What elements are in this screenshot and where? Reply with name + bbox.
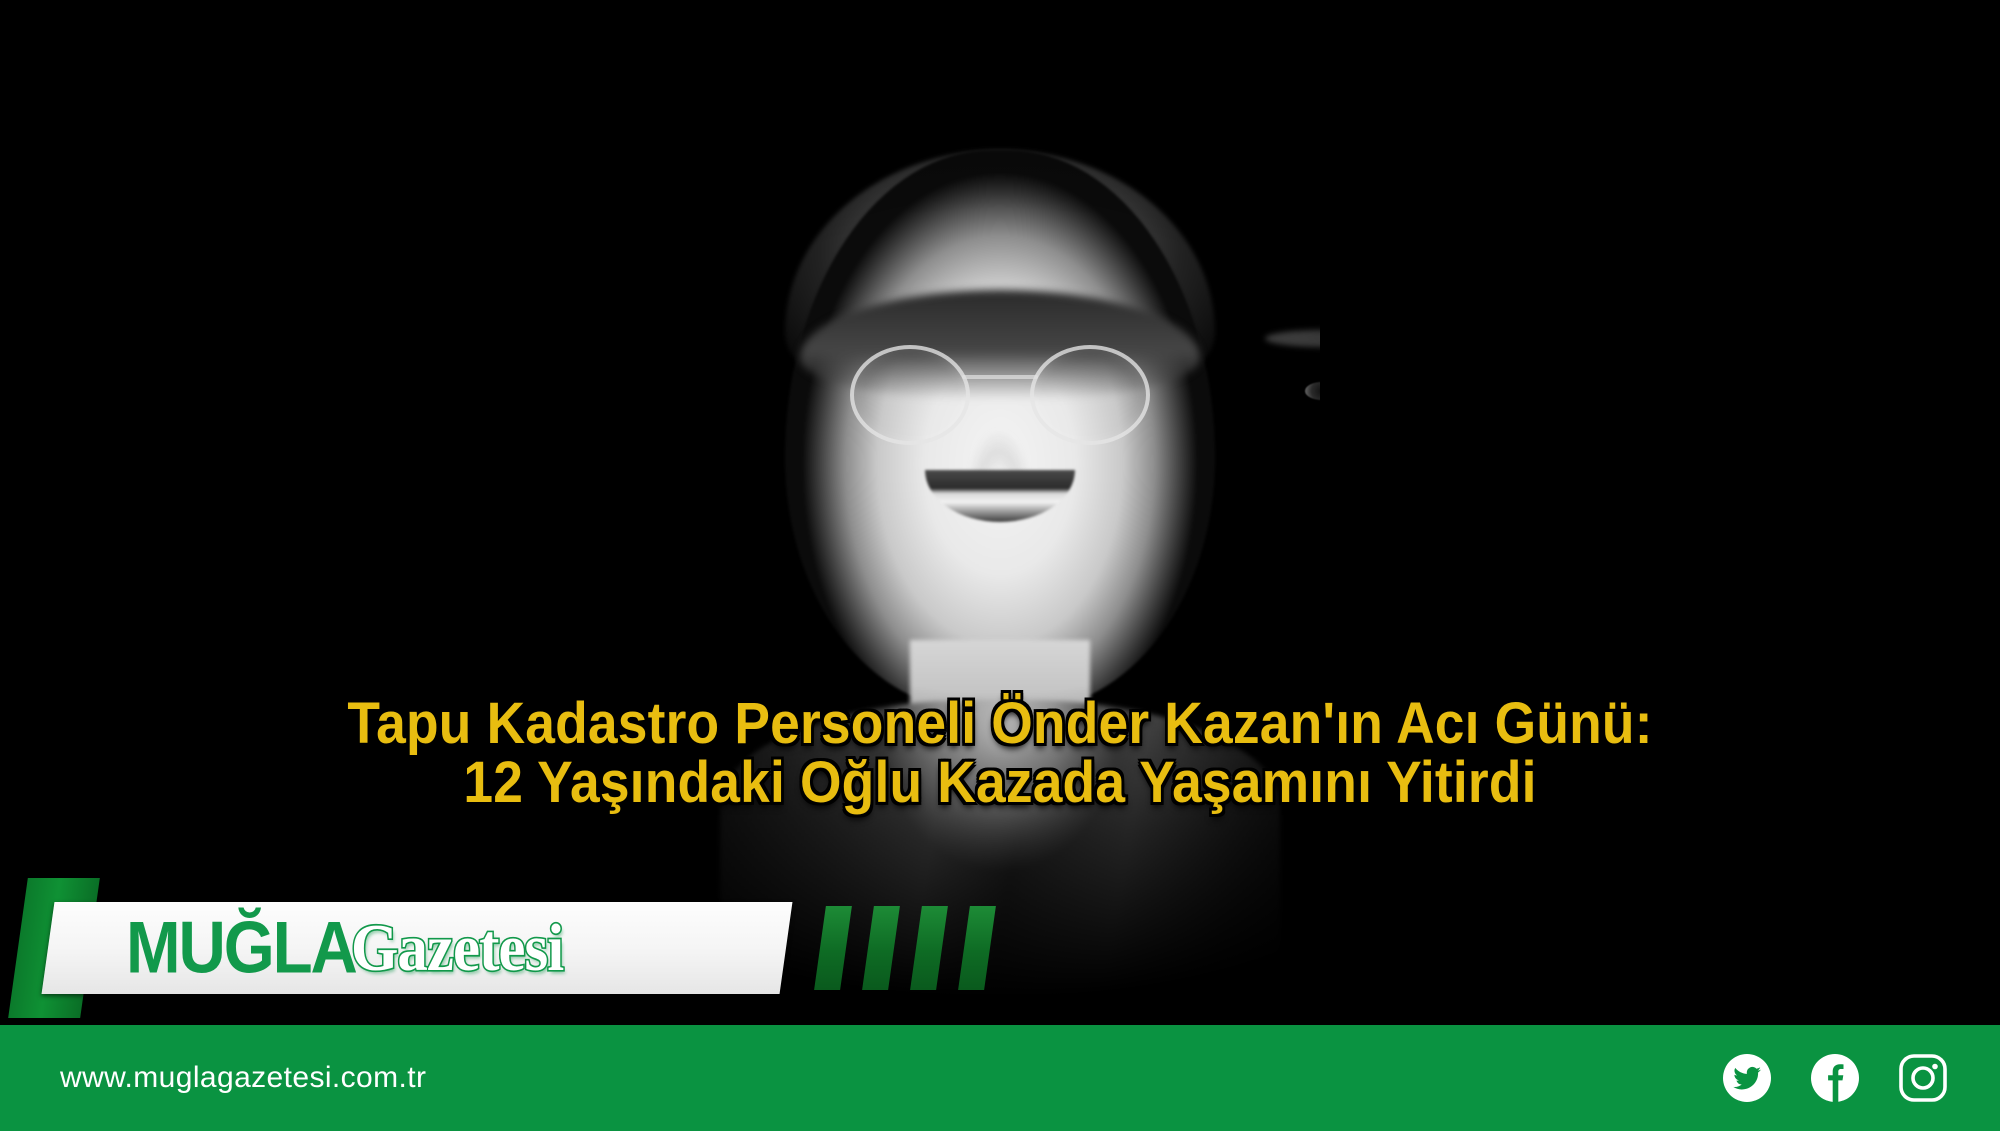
- logo-secondary-text: Gazetesi: [351, 914, 563, 981]
- logo-slash-accent: [814, 906, 1016, 990]
- twitter-icon[interactable]: [1722, 1053, 1772, 1103]
- logo-banner-inner: MUĞLA Gazetesi: [48, 902, 786, 994]
- social-links: [1722, 1053, 1948, 1103]
- logo-banner[interactable]: MUĞLA Gazetesi: [42, 902, 793, 994]
- website-url[interactable]: www.muglagazetesi.com.tr: [60, 1061, 426, 1095]
- headline-line-1: Tapu Kadastro Personeli Önder Kazan'ın A…: [80, 694, 1920, 753]
- headline-line-2: 12 Yaşındaki Oğlu Kazada Yaşamını Yitird…: [80, 753, 1920, 812]
- news-thumbnail-card: Tapu Kadastro Personeli Önder Kazan'ın A…: [0, 0, 2000, 1131]
- slash-mark-4: [958, 906, 996, 990]
- photo-vignette: [0, 0, 2000, 1025]
- slash-mark-2: [862, 906, 900, 990]
- facebook-icon[interactable]: [1810, 1053, 1860, 1103]
- slash-mark-3: [910, 906, 948, 990]
- headline: Tapu Kadastro Personeli Önder Kazan'ın A…: [80, 694, 1920, 812]
- article-photo: [0, 0, 2000, 1025]
- logo-primary-text: MUĞLA: [126, 911, 356, 984]
- instagram-icon[interactable]: [1898, 1053, 1948, 1103]
- footer-bar: www.muglagazetesi.com.tr: [0, 1025, 2000, 1131]
